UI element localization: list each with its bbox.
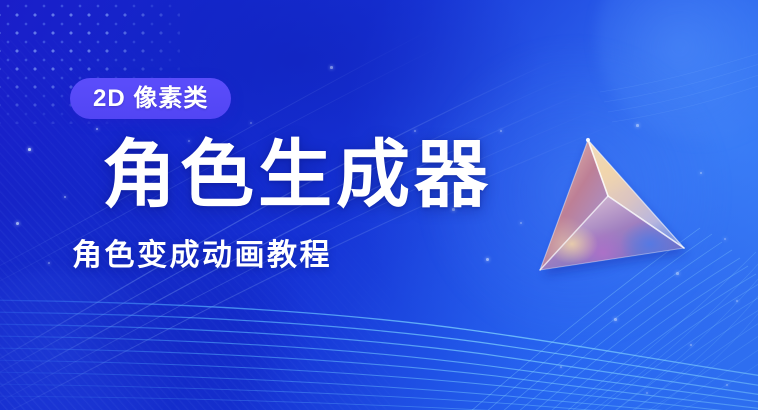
category-badge[interactable]: 2D 像素类 [70, 78, 231, 119]
category-badge-label: 2D 像素类 [93, 87, 208, 111]
banner-content: 2D 像素类 角色生成器 角色变成动画教程 [0, 0, 758, 410]
promo-banner: 2D 像素类 角色生成器 角色变成动画教程 [0, 0, 758, 410]
banner-title: 角色生成器 [102, 136, 492, 214]
banner-subtitle: 角色变成动画教程 [72, 238, 332, 274]
